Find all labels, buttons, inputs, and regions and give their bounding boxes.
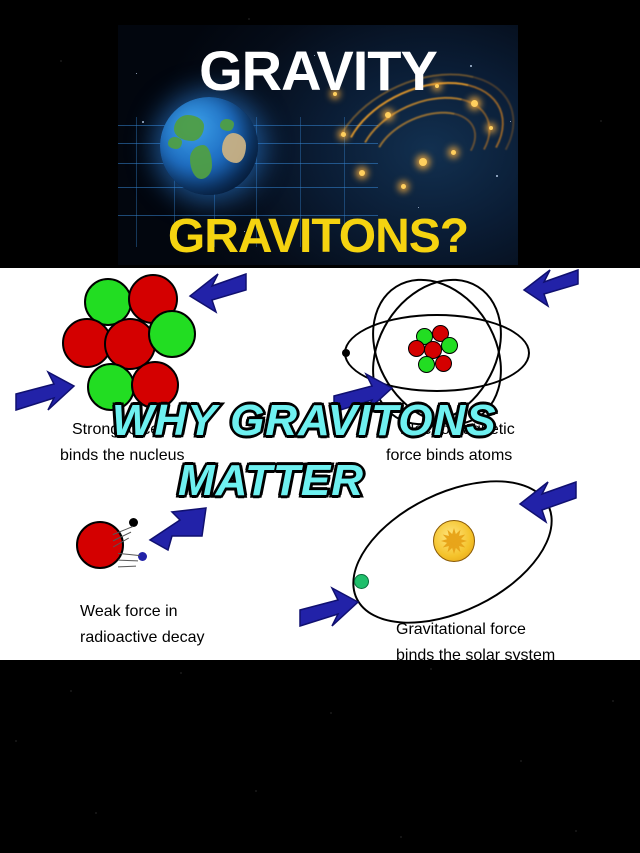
overlay-caption-line2-text: MATTER [178,456,364,505]
caption-weak-force-line2: radioactive decay [80,628,205,648]
electron-dot [342,349,350,357]
overlay-caption-line1-text: WHY GRAVITONS [112,396,497,445]
sun-icon [433,520,475,562]
caption-em-force-line2: force binds atoms [386,446,512,466]
caption-gravity-force-line2: binds the solar system [396,646,555,660]
caption-gravity-force-line1: Gravitational force [396,620,526,640]
emitted-blue-particle [138,552,147,561]
gravity-thumbnail-banner: GRAVITY GRAVITONS? [118,25,518,265]
caption-weak-force-line1: Weak force in [80,602,178,622]
video-frame: GRAVITY GRAVITONS? Strong force binds th… [0,0,640,853]
caption-strong-force-line2: binds the nucleus [60,446,185,466]
overlay-caption-line2: MATTER [178,456,364,506]
banner-title-bottom: GRAVITONS? [118,213,518,261]
earth-globe-icon [160,97,258,195]
banner-title-top: GRAVITY [118,43,518,99]
overlay-caption-line1: WHY GRAVITONS [112,396,497,446]
